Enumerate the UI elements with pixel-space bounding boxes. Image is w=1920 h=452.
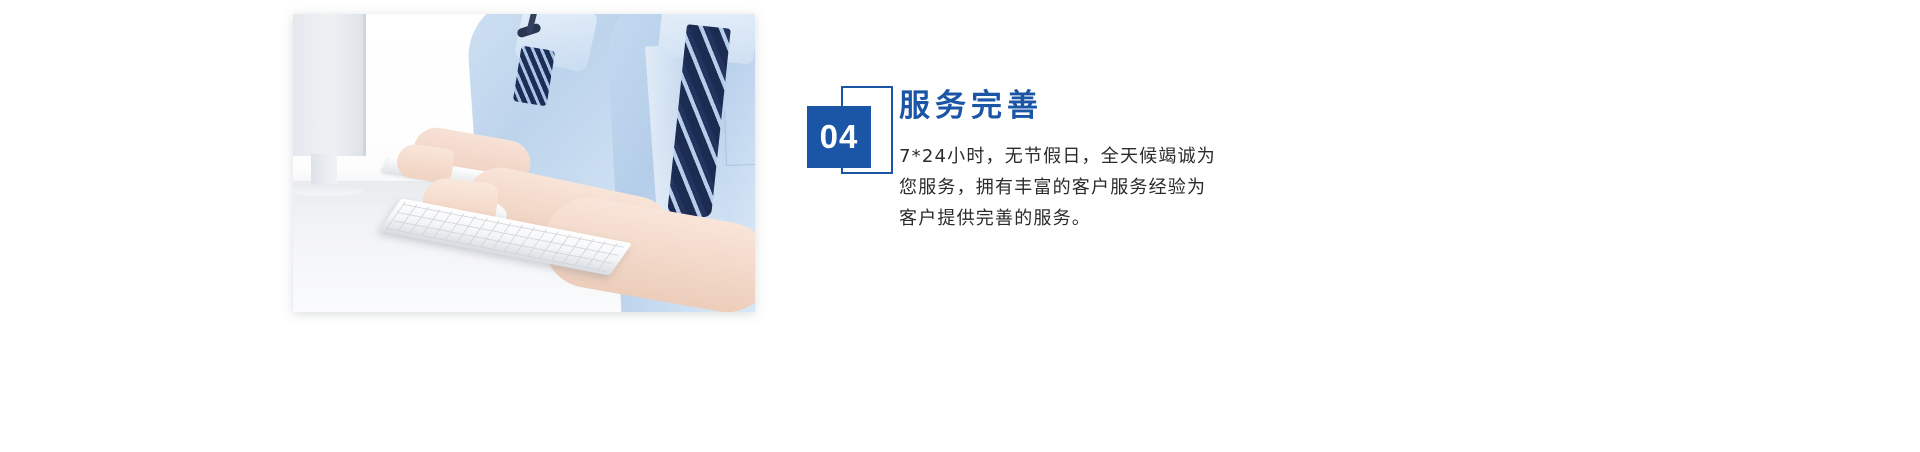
- feature-description: 7*24小时，无节假日，全天候竭诚为 您服务，拥有丰富的客户服务经验为 客户提供…: [899, 141, 1299, 234]
- badge-number-label: 04: [807, 106, 871, 168]
- feature-headline-row: 04 服务完善 7*24小时，无节假日，全天候竭诚为 您服务，拥有丰富的客户服务…: [807, 86, 1507, 158]
- monitor-neck: [311, 154, 337, 188]
- feature-description-line: 客户提供完善的服务。: [899, 203, 1299, 234]
- page-root: 04 服务完善 7*24小时，无节假日，全天候竭诚为 您服务，拥有丰富的客户服务…: [0, 0, 1920, 452]
- photo-canvas: [293, 14, 755, 312]
- shirt-pocket: [724, 109, 755, 166]
- feature-description-line: 您服务，拥有丰富的客户服务经验为: [899, 172, 1299, 203]
- monitor-icon: [293, 14, 366, 156]
- feature-number-badge: 04: [807, 86, 895, 176]
- feature-block: 04 服务完善 7*24小时，无节假日，全天候竭诚为 您服务，拥有丰富的客户服务…: [807, 86, 1507, 158]
- customer-service-team-photo: [293, 14, 755, 312]
- feature-description-line: 7*24小时，无节假日，全天候竭诚为: [899, 141, 1299, 172]
- feature-title: 服务完善: [899, 86, 1043, 126]
